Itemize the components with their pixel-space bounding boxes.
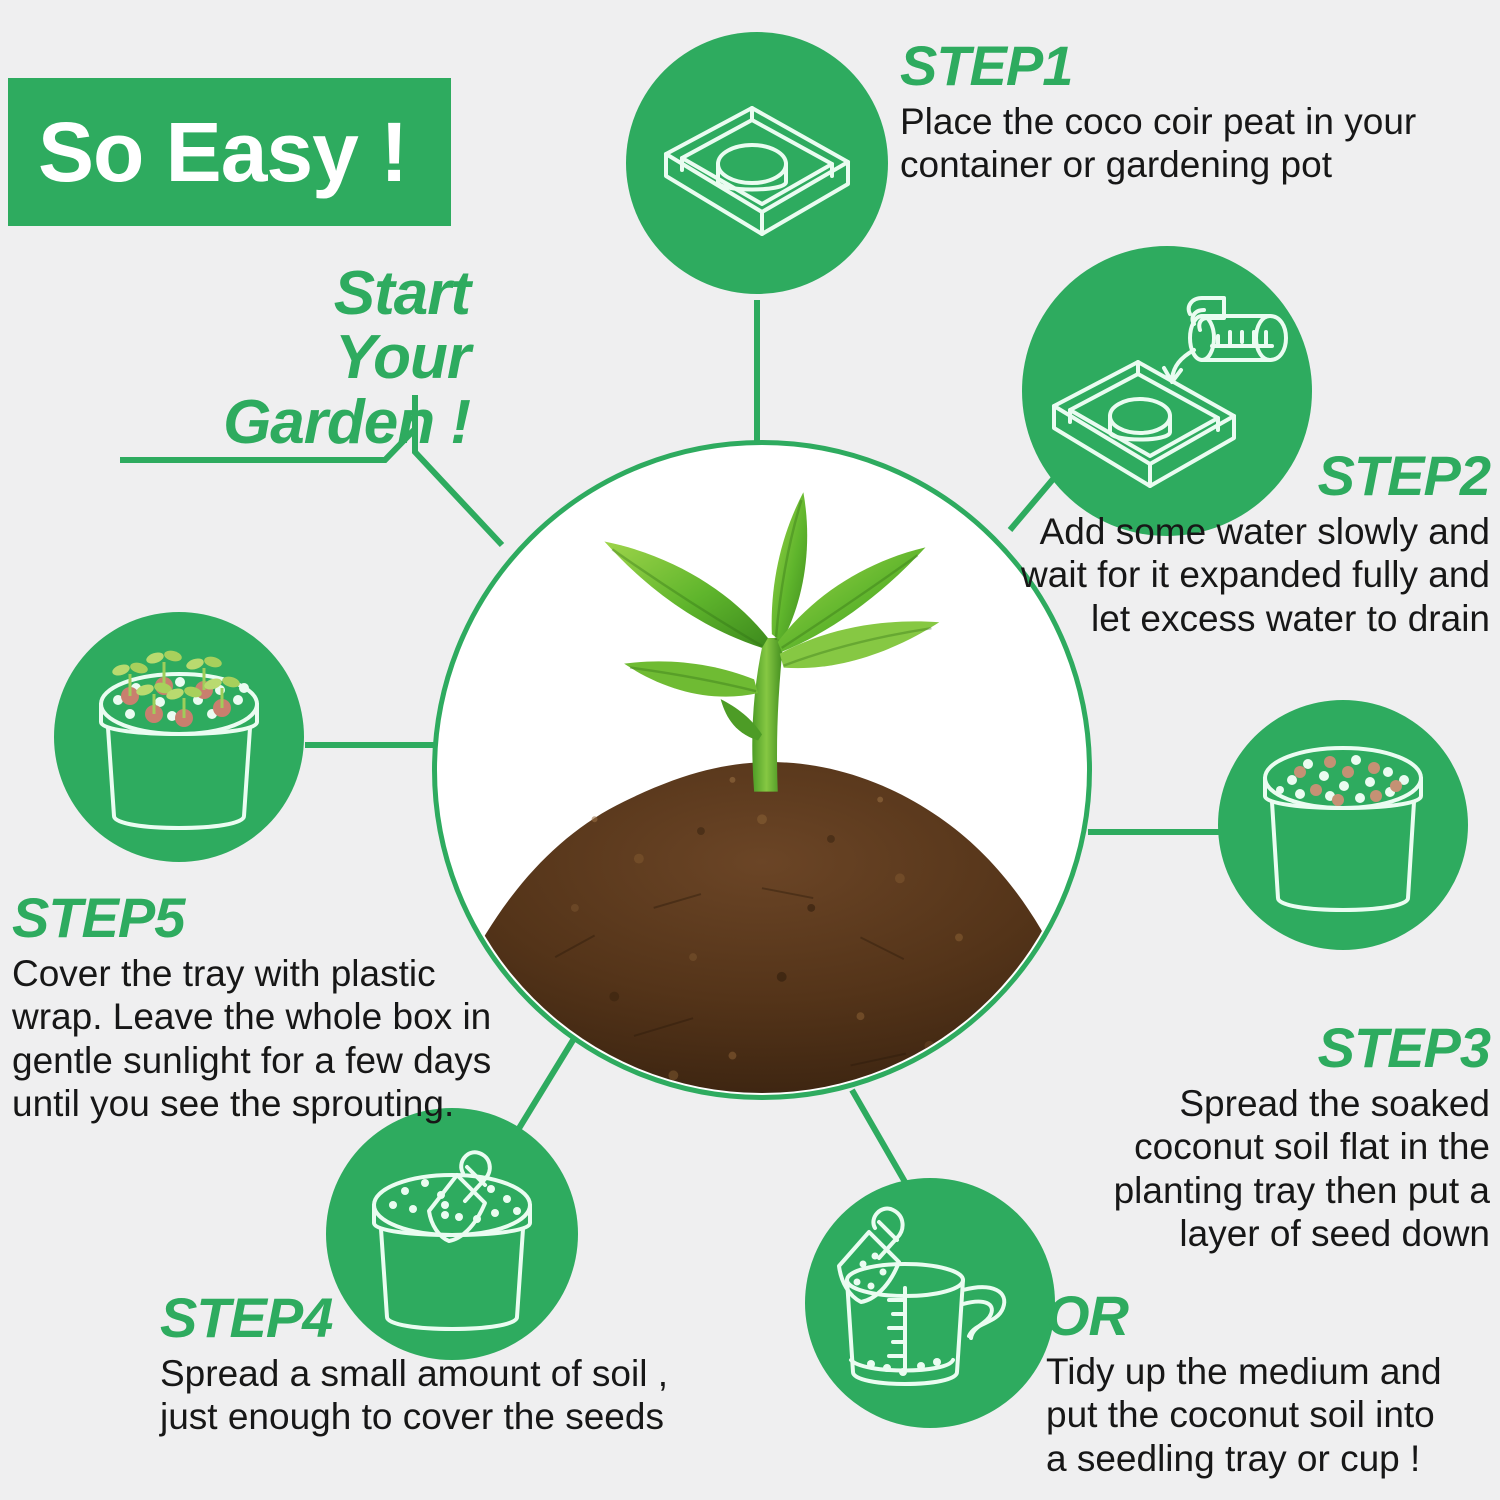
or-icon-circle: [805, 1178, 1055, 1428]
step5-body: Cover the tray with plastic wrap. Leave …: [12, 952, 512, 1125]
step2-text: STEP2 Add some water slowly and wait for…: [1010, 448, 1490, 640]
or-text: OR Tidy up the medium and put the coconu…: [1046, 1288, 1446, 1480]
pot-with-sprouts-icon: [72, 630, 287, 845]
start-your-garden-heading: Start Your Garden !: [70, 262, 488, 455]
measuring-cup-with-trowel-icon: [823, 1196, 1038, 1411]
center-seedling-photo: [432, 440, 1092, 1100]
step1-body: Place the coco coir peat in your contain…: [900, 100, 1420, 187]
step3-text: STEP3 Spread the soaked coconut soil fla…: [1040, 1020, 1490, 1255]
step4-body: Spread a small amount of soil , just eno…: [160, 1352, 680, 1439]
start-line-2: Your: [70, 326, 470, 390]
pot-with-seeds-icon: [1238, 720, 1448, 930]
step5-text: STEP5 Cover the tray with plastic wrap. …: [12, 890, 512, 1125]
tray-with-coir-puck-icon: [652, 58, 862, 268]
step2-label: STEP2: [1010, 448, 1490, 504]
connector-center-or: [852, 1090, 905, 1182]
step5-icon-circle: [54, 612, 304, 862]
step3-body: Spread the soaked coconut soil flat in t…: [1040, 1082, 1490, 1255]
so-easy-label: So Easy !: [38, 110, 407, 194]
step5-label: STEP5: [12, 890, 512, 946]
step1-text: STEP1 Place the coco coir peat in your c…: [900, 38, 1420, 187]
seedling-in-soil-photo: [437, 445, 1087, 1095]
so-easy-banner: So Easy !: [8, 78, 451, 226]
or-label: OR: [1046, 1288, 1446, 1344]
step1-label: STEP1: [900, 38, 1420, 94]
step4-label: STEP4: [160, 1290, 680, 1346]
start-line-3: Garden !: [70, 391, 470, 455]
step3-icon-circle: [1218, 700, 1468, 950]
infographic-canvas: So Easy ! Start Your Garden !: [0, 0, 1500, 1500]
start-line-1: Start: [70, 262, 470, 326]
step2-body: Add some water slowly and wait for it ex…: [1010, 510, 1490, 640]
step1-icon-circle: [626, 32, 888, 294]
or-body: Tidy up the medium and put the coconut s…: [1046, 1350, 1446, 1480]
step3-label: STEP3: [1040, 1020, 1490, 1076]
step4-text: STEP4 Spread a small amount of soil , ju…: [160, 1290, 680, 1439]
